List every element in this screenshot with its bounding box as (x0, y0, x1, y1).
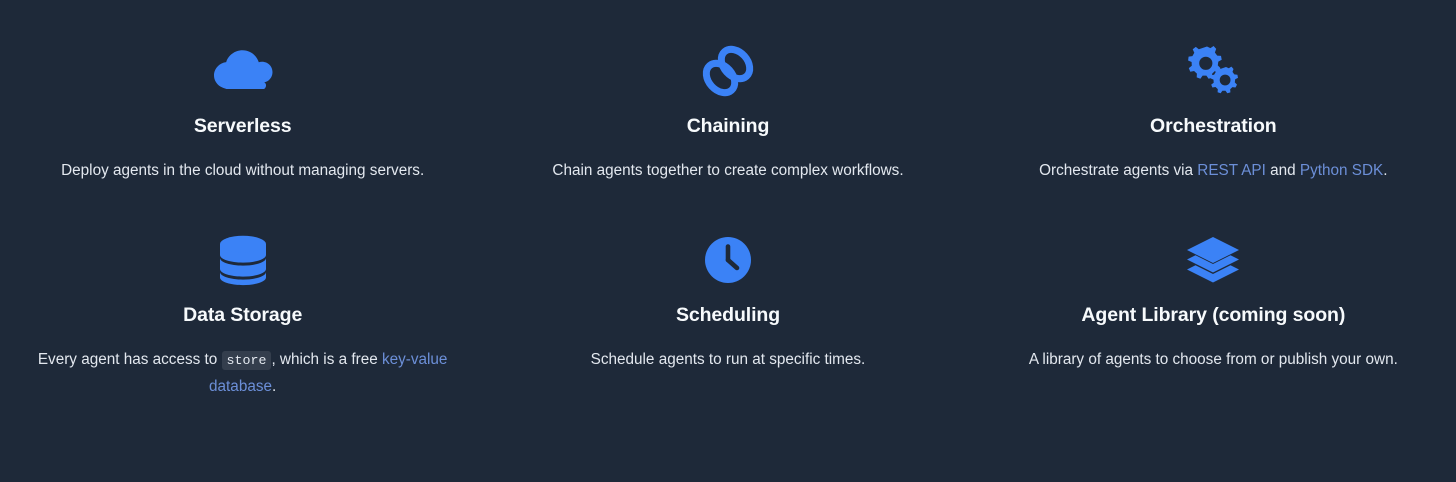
feature-description: Chain agents together to create complex … (552, 158, 903, 185)
desc-middle-text: and (1266, 162, 1300, 179)
feature-title: Agent Library (coming soon) (1081, 304, 1345, 327)
chain-link-icon (700, 40, 756, 102)
clock-icon (702, 229, 754, 291)
desc-tail-text: . (1383, 162, 1387, 179)
features-grid: Serverless Deploy agents in the cloud wi… (0, 0, 1456, 418)
feature-card-agent-library: Agent Library (coming soon) A library of… (971, 229, 1456, 418)
store-code-token: store (222, 351, 272, 370)
feature-description: A library of agents to choose from or pu… (1029, 347, 1398, 374)
feature-card-orchestration: Orchestration Orchestrate agents via RES… (971, 40, 1456, 229)
feature-title: Data Storage (183, 304, 302, 327)
feature-description: Schedule agents to run at specific times… (591, 347, 866, 374)
database-icon (217, 229, 269, 291)
cloud-icon (212, 40, 274, 102)
desc-middle-text: , which is a free (271, 351, 382, 368)
feature-title: Orchestration (1150, 115, 1277, 138)
feature-description: Deploy agents in the cloud without manag… (61, 158, 424, 185)
feature-title: Serverless (194, 115, 292, 138)
feature-description: Orchestrate agents via REST API and Pyth… (1039, 158, 1387, 185)
feature-description: Every agent has access to store, which i… (33, 347, 453, 401)
feature-card-chaining: Chaining Chain agents together to create… (485, 40, 970, 229)
layers-icon (1184, 229, 1242, 291)
desc-lead-text: Orchestrate agents via (1039, 162, 1197, 179)
python-sdk-link[interactable]: Python SDK (1300, 162, 1383, 179)
feature-card-scheduling: Scheduling Schedule agents to run at spe… (485, 229, 970, 418)
feature-card-serverless: Serverless Deploy agents in the cloud wi… (0, 40, 485, 229)
gears-icon (1182, 40, 1244, 102)
desc-tail-text: . (272, 378, 276, 395)
feature-card-data-storage: Data Storage Every agent has access to s… (0, 229, 485, 418)
feature-title: Chaining (687, 115, 770, 138)
feature-title: Scheduling (676, 304, 780, 327)
rest-api-link[interactable]: REST API (1197, 162, 1266, 179)
desc-lead-text: Every agent has access to (38, 351, 222, 368)
